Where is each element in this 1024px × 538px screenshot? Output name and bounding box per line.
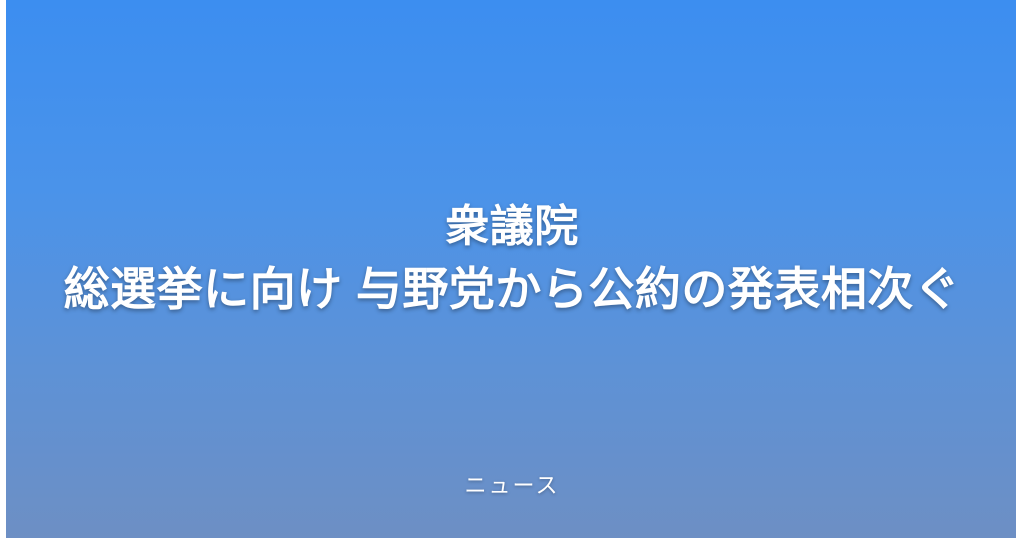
slide-caption: ニュース — [0, 468, 1024, 500]
title-line-1: 衆議院 — [0, 196, 1024, 258]
title-line-2: 総選挙に向け 与野党から公約の発表相次ぐ — [0, 258, 1024, 320]
slide-title: 衆議院 総選挙に向け 与野党から公約の発表相次ぐ — [0, 196, 1024, 320]
slide-canvas: 衆議院 総選挙に向け 与野党から公約の発表相次ぐ ニュース — [0, 0, 1024, 538]
